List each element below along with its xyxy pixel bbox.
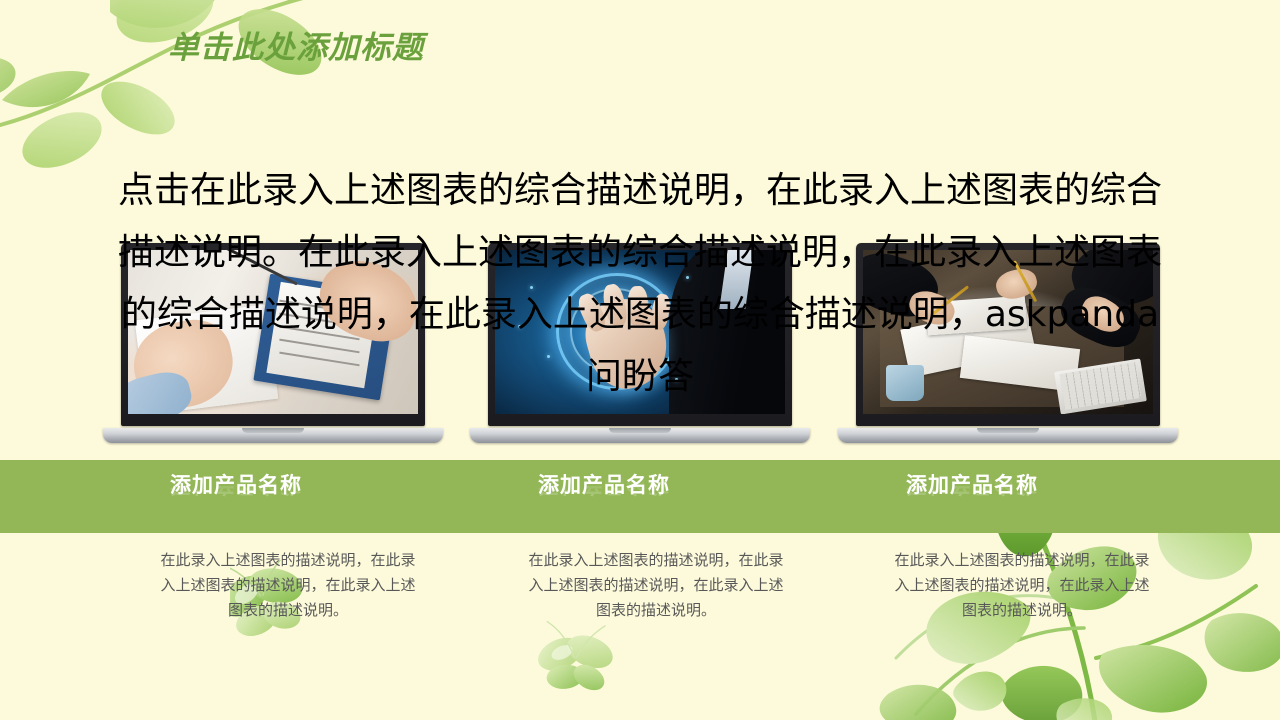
- presentation-slide: 单击此处添加标题: [0, 0, 1280, 720]
- laptop-notch: [242, 428, 304, 433]
- laptop-base: [103, 428, 443, 443]
- product-title-1: 添加产品名称 添加产品名称: [170, 471, 470, 533]
- laptop-base: [470, 428, 810, 443]
- product-title-2: 添加产品名称 添加产品名称: [538, 471, 838, 533]
- laptop-notch: [609, 428, 671, 433]
- page-title: 单击此处添加标题: [168, 26, 868, 70]
- product-description-2: 在此录入上述图表的描述说明，在此录入上述图表的描述说明，在此录入上述图表的描述说…: [523, 548, 789, 623]
- product-description-1: 在此录入上述图表的描述说明，在此录入上述图表的描述说明，在此录入上述图表的描述说…: [155, 548, 421, 623]
- product-title-reflection-1: 添加产品名称: [170, 471, 470, 499]
- laptop-base: [838, 428, 1178, 443]
- laptop-notch: [977, 428, 1039, 433]
- product-title-3: 添加产品名称 添加产品名称: [906, 471, 1206, 533]
- product-name-banner: 添加产品名称 添加产品名称 添加产品名称 添加产品名称 添加产品名称 添加产品名…: [0, 460, 1280, 533]
- product-title-reflection-3: 添加产品名称: [906, 471, 1206, 499]
- title-area: 单击此处添加标题: [168, 26, 868, 74]
- product-description-3: 在此录入上述图表的描述说明，在此录入上述图表的描述说明，在此录入上述图表的描述说…: [889, 548, 1155, 623]
- overlay-description-text: 点击在此录入上述图表的综合描述说明，在此录入上述图表的综合描述说明。在此录入上述…: [104, 160, 1176, 408]
- product-title-reflection-2: 添加产品名称: [538, 471, 838, 499]
